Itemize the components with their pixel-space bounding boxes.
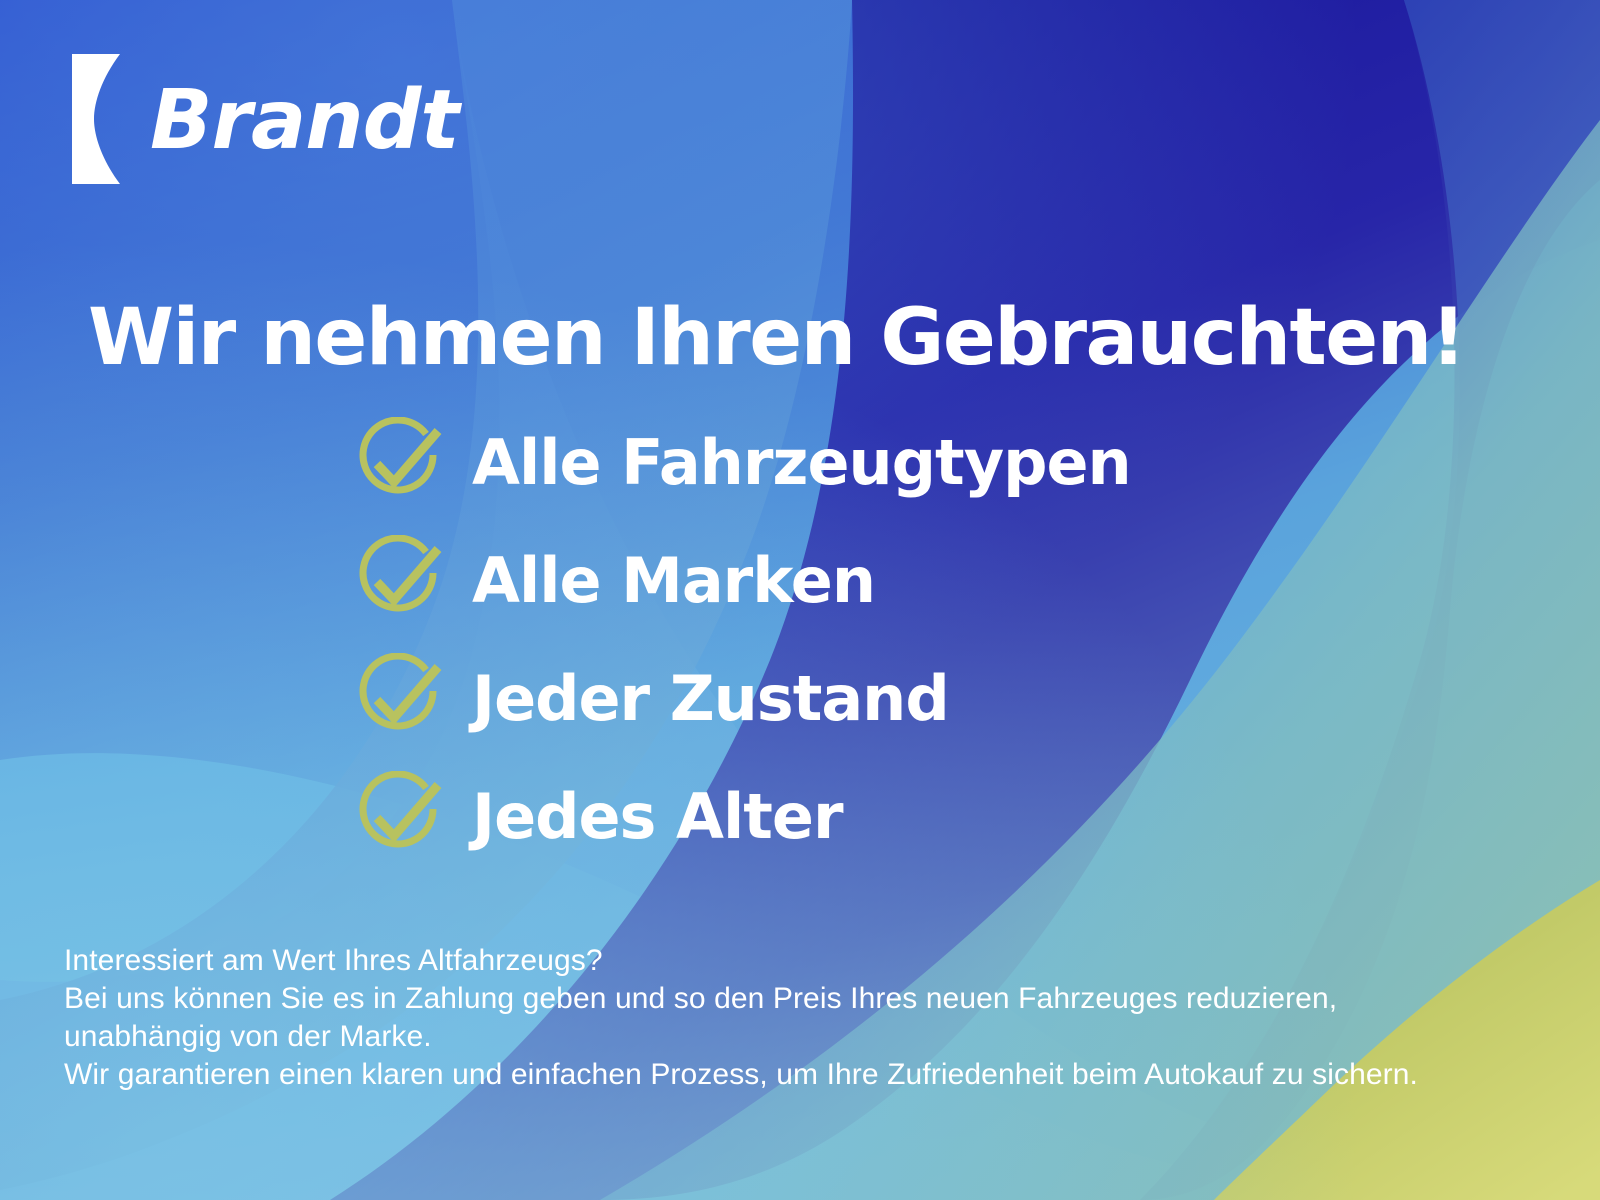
benefits-list: Alle Fahrzeugtypen Alle Marken Jeder Zus… <box>352 404 1131 876</box>
body-copy-line: unabhängig von der Marke. <box>64 1018 1484 1056</box>
benefit-label: Alle Fahrzeugtypen <box>472 432 1131 494</box>
list-item: Jeder Zustand <box>352 640 1131 758</box>
brand-name: Brandt <box>150 80 459 162</box>
check-circle-icon <box>352 771 444 863</box>
check-circle-icon <box>352 535 444 627</box>
brand-logo: Brandt <box>72 54 459 184</box>
list-item: Jedes Alter <box>352 758 1131 876</box>
benefit-label: Alle Marken <box>472 550 875 612</box>
check-circle-icon <box>352 653 444 745</box>
promo-poster: Brandt Wir nehmen Ihren Gebrauchten! All… <box>0 0 1600 1200</box>
list-item: Alle Fahrzeugtypen <box>352 404 1131 522</box>
body-copy-line: Wir garantieren einen klaren und einfach… <box>64 1056 1484 1094</box>
benefit-label: Jeder Zustand <box>472 668 949 730</box>
body-copy-line: Bei uns können Sie es in Zahlung geben u… <box>64 980 1484 1018</box>
bracket-logo-icon <box>72 54 144 184</box>
benefit-label: Jedes Alter <box>472 786 843 848</box>
check-circle-icon <box>352 417 444 509</box>
page-title: Wir nehmen Ihren Gebrauchten! <box>88 298 1465 380</box>
body-copy-line: Interessiert am Wert Ihres Altfahrzeugs? <box>64 942 1484 980</box>
list-item: Alle Marken <box>352 522 1131 640</box>
body-copy-block: Interessiert am Wert Ihres Altfahrzeugs?… <box>64 942 1484 1094</box>
